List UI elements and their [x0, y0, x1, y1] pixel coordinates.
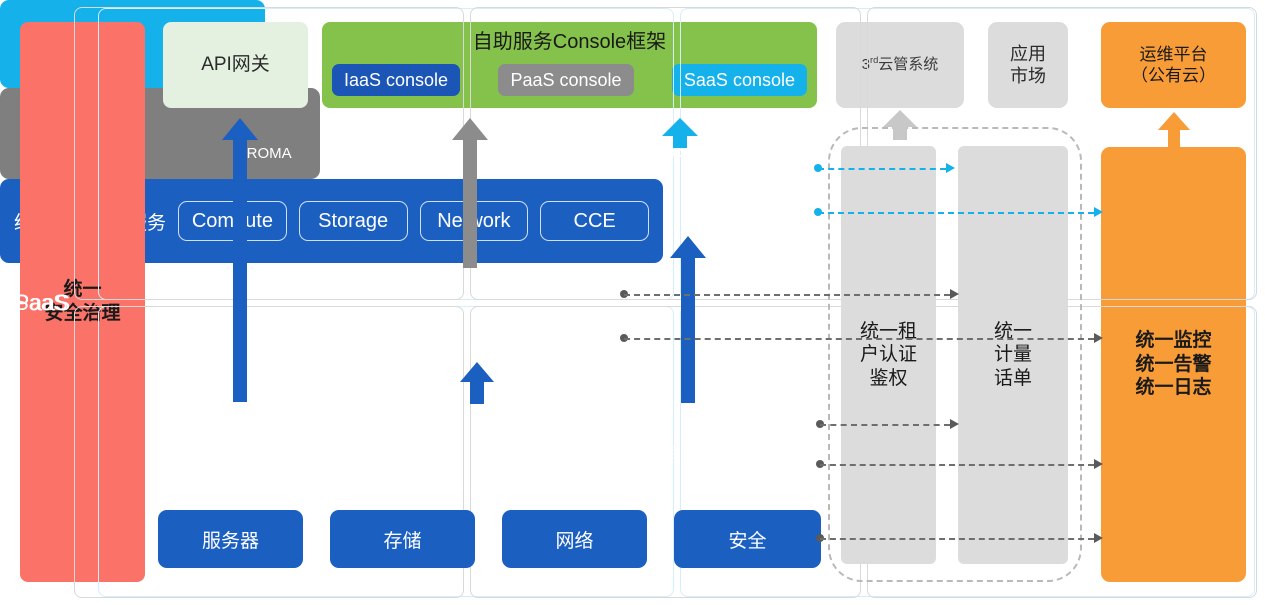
paas-label: PaaS: [14, 289, 70, 316]
arrow-zone-to-third-cloud: [882, 110, 918, 140]
arrow-saas-to-console: [662, 118, 698, 148]
auth-line-3: 鉴权: [860, 367, 917, 390]
bottom-box-storage[interactable]: 存储: [330, 510, 475, 568]
connector-arrowhead-bottom-ops: [1094, 533, 1103, 543]
connector-arrowhead-infra-ops: [1094, 459, 1103, 469]
connector-saas-to-ops: [818, 212, 1094, 214]
connector-paas-to-ops: [624, 338, 1094, 340]
arrow-paas-to-console: [452, 118, 488, 268]
arrow-infra-to-saas: [670, 236, 706, 403]
connector-arrowhead-saas-auth: [946, 163, 955, 173]
bottom-box-security[interactable]: 安全: [674, 510, 821, 568]
chip-roma[interactable]: ROMA: [74, 7, 464, 300]
connector-paas-to-auth: [624, 294, 950, 296]
bottom-box-network[interactable]: 网络: [502, 510, 647, 568]
connector-bottom-to-ops: [820, 538, 1094, 540]
connector-infra-to-auth: [820, 424, 950, 426]
arrow-ops-right-to-ops-top: [1156, 112, 1192, 148]
meter-line-3: 话单: [994, 367, 1032, 390]
unified-tenant-auth-column: 统一租 户认证 鉴权: [841, 146, 936, 564]
architecture-diagram: 统一 安全治理 API网关 自助服务Console框架 IaaS console…: [0, 0, 1265, 605]
bottom-box-server[interactable]: 服务器: [158, 510, 303, 568]
arrow-infra-to-api-gateway: [222, 118, 258, 402]
connector-arrowhead-paas-ops: [1094, 333, 1103, 343]
auth-line-2: 户认证: [860, 343, 917, 366]
meter-line-2: 计量: [994, 343, 1032, 366]
connector-arrowhead-saas-ops: [1094, 207, 1103, 217]
unified-metering-column: 统一 计量 话单: [958, 146, 1068, 564]
connector-arrowhead-infra-auth: [950, 419, 959, 429]
arrow-infra-to-paas: [459, 362, 495, 404]
chip-dgc[interactable]: DGC: [470, 7, 860, 300]
connector-arrowhead-paas-auth: [950, 289, 959, 299]
connector-infra-to-ops: [820, 464, 1094, 466]
connector-saas-to-auth: [818, 168, 946, 170]
